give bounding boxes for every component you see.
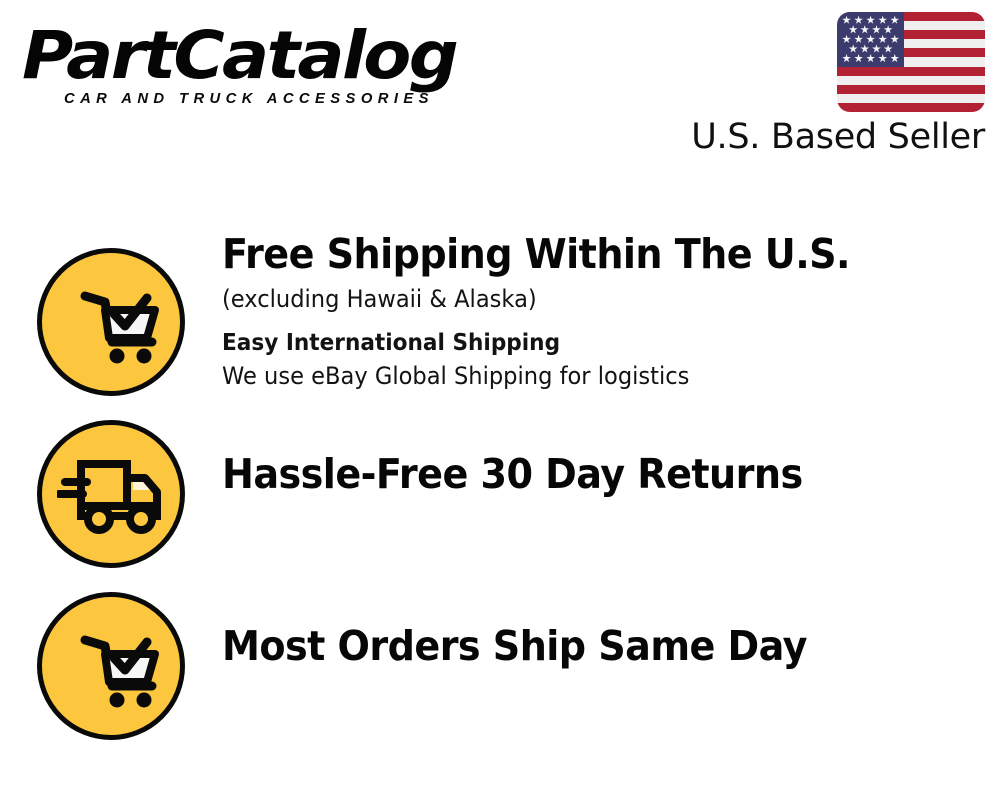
flag-star-icon	[878, 16, 887, 25]
shopping-cart-check-icon	[37, 248, 185, 396]
flag-star-icon	[884, 25, 893, 34]
flag-canton	[837, 12, 904, 67]
flag-star-icon	[872, 44, 881, 53]
feature-icon-cell	[0, 404, 222, 568]
feature-icon-cell	[0, 232, 222, 396]
flag-star-icon	[890, 54, 899, 63]
feature-text-cell: Free Shipping Within The U.S. (excluding…	[222, 232, 1000, 392]
delivery-truck-icon	[37, 420, 185, 568]
flag-star-icon	[849, 44, 858, 53]
feature-list: Free Shipping Within The U.S. (excluding…	[0, 232, 1000, 736]
flag-star-icon	[890, 35, 899, 44]
feature-text-cell: Hassle-Free 30 Day Returns	[222, 404, 1000, 496]
feature-text-cell: Most Orders Ship Same Day	[222, 576, 1000, 668]
us-based-seller-badge: U.S. Based Seller	[715, 12, 985, 157]
flag-star-icon	[866, 35, 875, 44]
shopping-cart-check-icon	[37, 592, 185, 740]
feature-headline: Free Shipping Within The U.S.	[222, 232, 946, 276]
flag-star-icon	[860, 44, 869, 53]
us-flag-icon	[837, 12, 985, 112]
flag-star-icon	[854, 54, 863, 63]
feature-sub-heading: Easy International Shipping	[222, 328, 953, 359]
flag-star-icon	[842, 35, 851, 44]
feature-sub-detail: We use eBay Global Shipping for logistic…	[222, 360, 953, 392]
flag-star-icon	[854, 35, 863, 44]
flag-star-row	[839, 44, 902, 53]
flag-stripe	[837, 94, 985, 103]
feature-subline: (excluding Hawaii & Alaska)	[222, 283, 953, 315]
feature-item-free-shipping: Free Shipping Within The U.S. (excluding…	[0, 232, 1000, 404]
flag-stripe	[837, 103, 985, 112]
flag-star-icon	[878, 35, 887, 44]
flag-star-row	[839, 16, 902, 25]
flag-stripe	[837, 85, 985, 94]
flag-star-icon	[842, 16, 851, 25]
brand-tagline: CAR AND TRUCK ACCESSORIES	[64, 91, 501, 107]
flag-stripe	[837, 67, 985, 76]
flag-star-icon	[872, 25, 881, 34]
feature-headline: Hassle-Free 30 Day Returns	[222, 452, 946, 496]
feature-item-same-day: Most Orders Ship Same Day	[0, 576, 1000, 736]
flag-star-icon	[866, 54, 875, 63]
flag-star-icon	[849, 25, 858, 34]
brand-wordmark: PartCatalog	[22, 24, 520, 89]
flag-star-icon	[884, 44, 893, 53]
flag-star-icon	[866, 16, 875, 25]
flag-star-row	[839, 35, 902, 44]
flag-star-icon	[878, 54, 887, 63]
feature-item-returns: Hassle-Free 30 Day Returns	[0, 404, 1000, 576]
flag-star-row	[839, 25, 902, 34]
brand-logo[interactable]: PartCatalog CAR AND TRUCK ACCESSORIES	[22, 24, 492, 107]
flag-stripe	[837, 76, 985, 85]
flag-star-icon	[854, 16, 863, 25]
feature-headline: Most Orders Ship Same Day	[222, 624, 946, 668]
us-based-seller-label: U.S. Based Seller	[691, 118, 985, 157]
flag-star-row	[839, 54, 902, 63]
feature-icon-cell	[0, 576, 222, 740]
flag-star-icon	[890, 16, 899, 25]
flag-star-icon	[860, 25, 869, 34]
seller-info-banner: PartCatalog CAR AND TRUCK ACCESSORIES	[0, 0, 1000, 800]
flag-star-icon	[842, 54, 851, 63]
